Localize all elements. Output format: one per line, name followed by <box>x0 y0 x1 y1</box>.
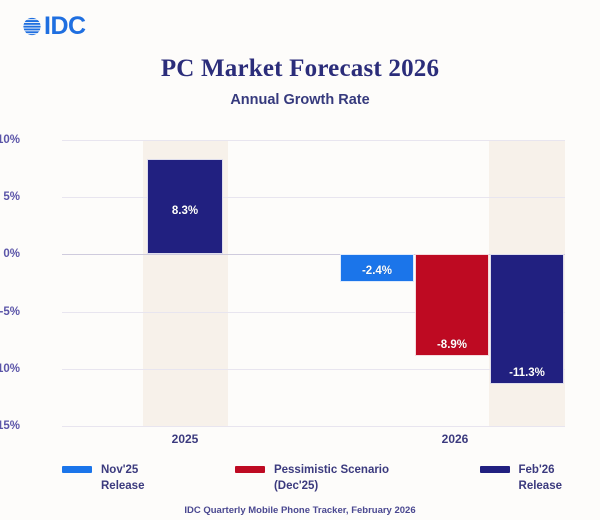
gridline <box>62 140 565 141</box>
chart-subtitle: Annual Growth Rate <box>0 92 600 108</box>
bar-value-label: 8.3% <box>172 205 198 217</box>
chart-legend: Nov'25 ReleasePessimistic Scenario (Dec'… <box>62 462 562 494</box>
y-axis-tick-label: 0% <box>0 248 20 260</box>
legend-item-3[interactable]: Feb'26 Release <box>480 462 562 494</box>
chart-page: IDC PC Market Forecast 2026 Annual Growt… <box>0 0 600 520</box>
gridline <box>62 197 565 198</box>
gridline <box>62 426 565 427</box>
y-axis-tick-label: -10% <box>0 363 20 375</box>
y-axis-tick-label: 10% <box>0 134 20 146</box>
y-axis-tick-label: 5% <box>0 191 20 203</box>
legend-label: Feb'26 Release <box>519 462 562 494</box>
plot-area: 10%5%0%-5%-10%-15%8.3%-2.4%-8.9%-11.3%20… <box>62 140 565 426</box>
legend-swatch-icon <box>480 466 510 473</box>
legend-item-2[interactable]: Pessimistic Scenario (Dec'25) <box>235 462 389 494</box>
legend-label: Nov'25 Release <box>101 462 144 494</box>
bar-2026-4[interactable] <box>490 254 564 383</box>
legend-swatch-icon <box>62 466 92 473</box>
legend-item-1[interactable]: Nov'25 Release <box>62 462 144 494</box>
legend-swatch-icon <box>235 466 265 473</box>
idc-logo: IDC <box>22 14 86 39</box>
idc-logo-text: IDC <box>44 14 86 39</box>
source-footnote: IDC Quarterly Mobile Phone Tracker, Febr… <box>0 505 600 516</box>
chart-title: PC Market Forecast 2026 <box>0 55 600 83</box>
y-axis-tick-label: -5% <box>0 306 20 318</box>
bar-value-label: -2.4% <box>362 265 392 277</box>
x-axis-tick-label-2026: 2026 <box>442 432 469 446</box>
legend-label: Pessimistic Scenario (Dec'25) <box>274 462 389 494</box>
y-axis-tick-label: -15% <box>0 420 20 432</box>
bar-value-label: -8.9% <box>437 339 467 351</box>
idc-globe-icon <box>22 16 42 37</box>
bar-value-label: -11.3% <box>509 367 545 379</box>
x-axis-tick-label-2025: 2025 <box>172 432 199 446</box>
